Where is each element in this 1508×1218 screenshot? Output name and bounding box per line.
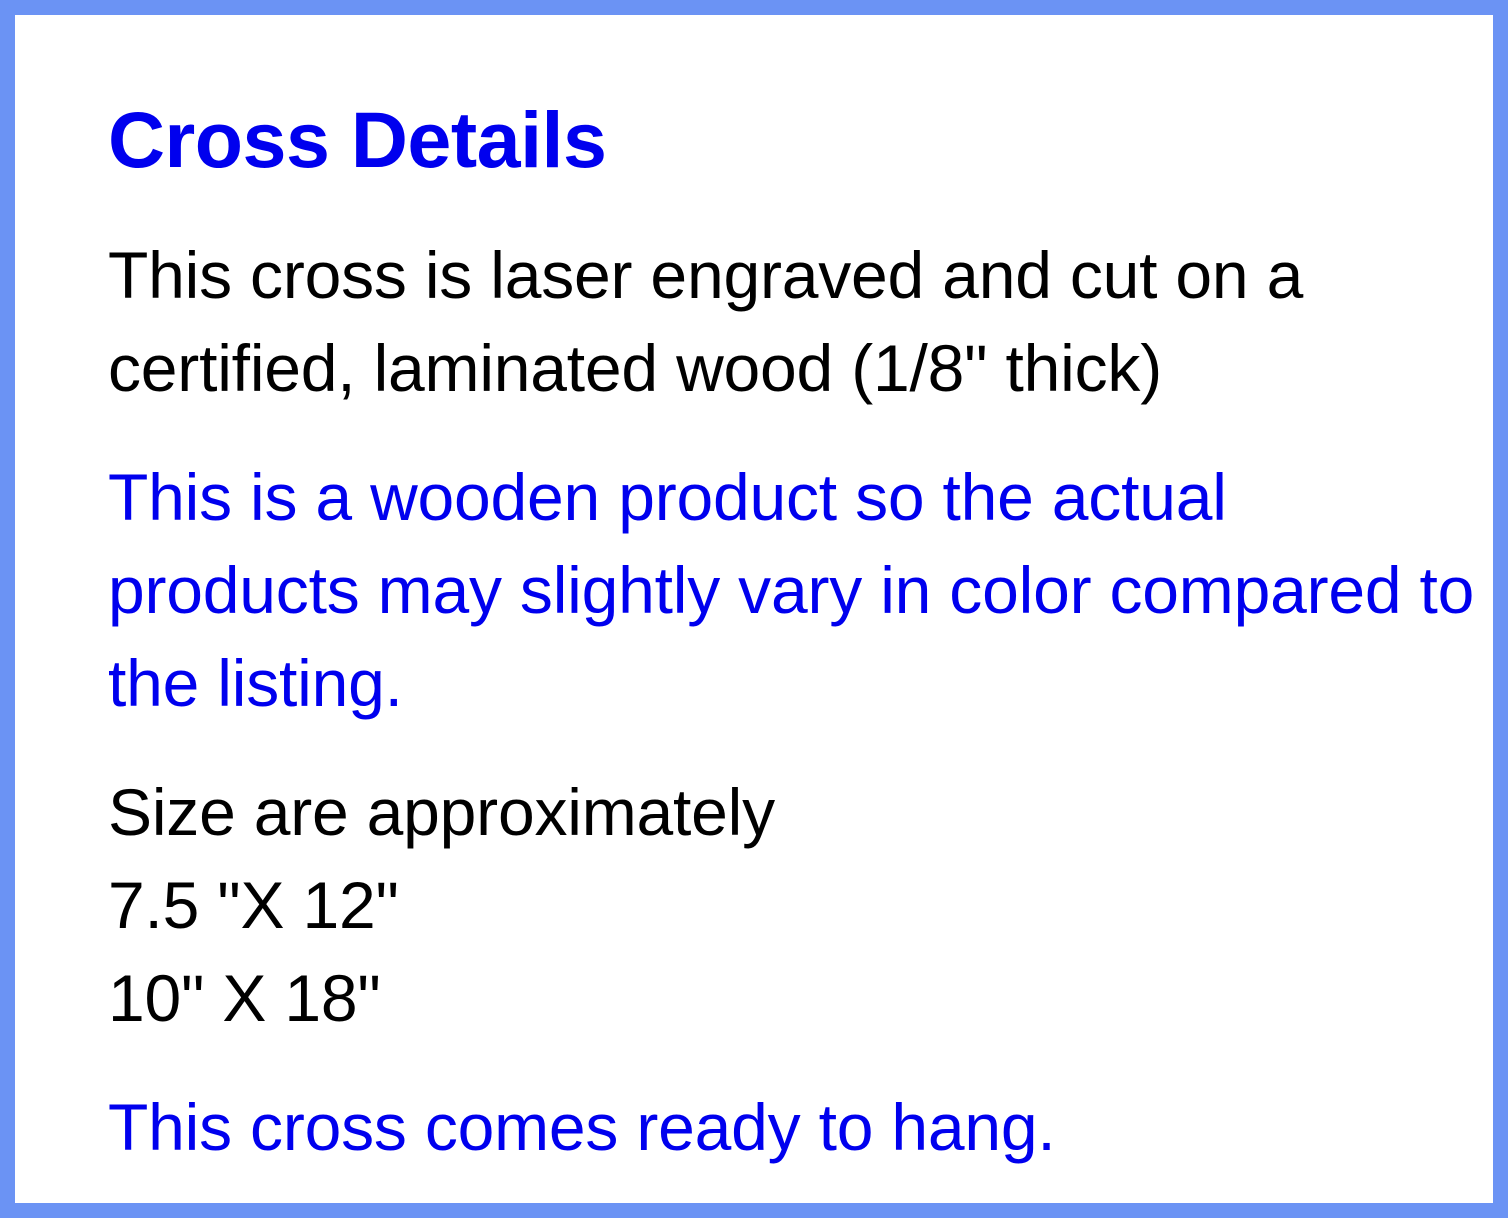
cross-details-card: Cross Details This cross is laser engrav… (0, 0, 1508, 1218)
card-content: Cross Details This cross is laser engrav… (15, 15, 1493, 1203)
material-description-paragraph: This cross is laser engraved and cut on … (108, 229, 1493, 415)
size-option-small: 7.5 "X 12" (108, 859, 1493, 952)
ready-to-hang-paragraph: This cross comes ready to hang. (108, 1081, 1493, 1174)
size-heading-line: Size are approximately (108, 766, 1493, 859)
color-variation-disclaimer-paragraph: This is a wooden product so the actual p… (108, 451, 1493, 730)
page-title: Cross Details (108, 93, 1493, 187)
size-option-large: 10" X 18" (108, 952, 1493, 1045)
size-information-block: Size are approximately 7.5 "X 12" 10" X … (108, 766, 1493, 1045)
